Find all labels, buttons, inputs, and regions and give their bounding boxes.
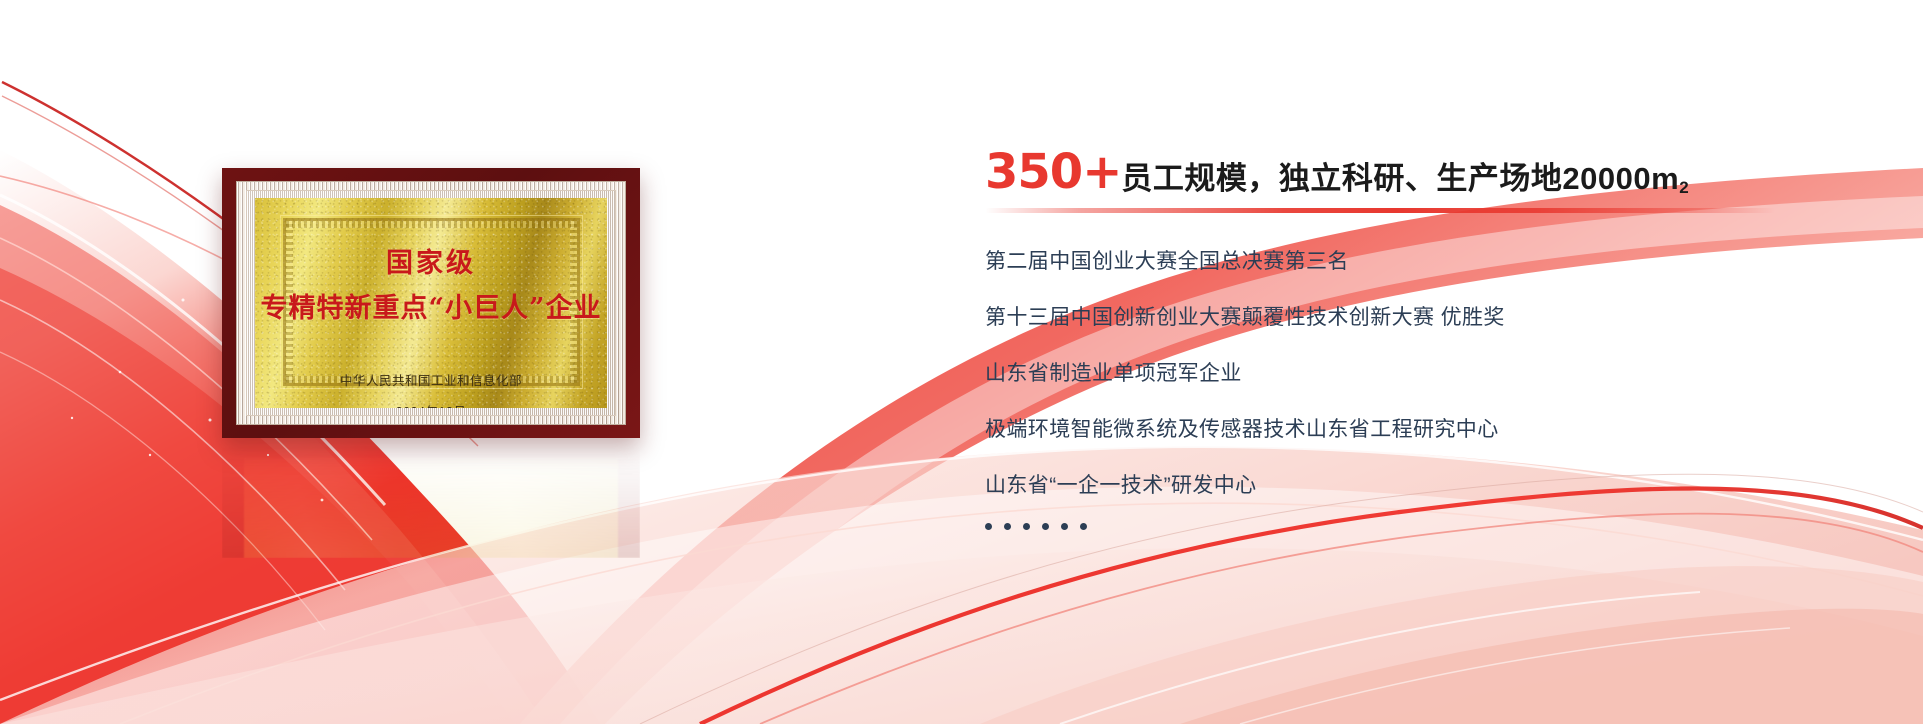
- reflection-frame: [222, 440, 640, 558]
- list-item: 第二届中国创业大赛全国总决赛第三名: [985, 251, 1805, 272]
- plaque-text-block: 国家级 专精特新重点“小巨人”企业 中华人民共和国工业和信息化部 2024年12…: [255, 198, 607, 408]
- ellipsis-dot: [985, 523, 992, 530]
- list-item: 山东省制造业单项冠军企业: [985, 363, 1805, 384]
- plaque-title-line-2: 专精特新重点“小巨人”企业: [260, 295, 601, 322]
- ellipsis-dot: [1023, 523, 1030, 530]
- more-indicator: [985, 523, 1805, 530]
- list-item: 第十三届中国创新创业大赛颠覆性技术创新大赛 优胜奖: [985, 307, 1805, 328]
- plaque-issuer: 中华人民共和国工业和信息化部: [340, 370, 522, 389]
- reflection-plate: [244, 458, 618, 558]
- ellipsis-dot: [1004, 523, 1011, 530]
- headline: 350+ 员工规模，独立科研、生产场地20000m 2: [985, 148, 1805, 196]
- plaque-gold-plate: 国家级 专精特新重点“小巨人”企业 中华人民共和国工业和信息化部 2024年12…: [255, 198, 607, 408]
- plaque-title-line-1: 国家级: [386, 250, 476, 277]
- plaque-date: 2024年12月: [396, 401, 467, 408]
- content-column: 350+ 员工规模，独立科研、生产场地20000m 2 第二届中国创业大赛全国总…: [985, 148, 1805, 565]
- plaque-silver-border-inner: 国家级 专精特新重点“小巨人”企业 中华人民共和国工业和信息化部 2024年12…: [246, 190, 616, 416]
- list-item: 极端环境智能微系统及传感器技术山东省工程研究中心: [985, 419, 1805, 440]
- ellipsis-dot: [1080, 523, 1087, 530]
- plaque-silver-border: 国家级 专精特新重点“小巨人”企业 中华人民共和国工业和信息化部 2024年12…: [236, 181, 626, 425]
- headline-underline: [985, 208, 1775, 213]
- plaque-reflection: [222, 440, 640, 558]
- honors-list: 第二届中国创业大赛全国总决赛第三名 第十三届中国创新创业大赛颠覆性技术创新大赛 …: [985, 251, 1805, 530]
- award-plaque: 国家级 专精特新重点“小巨人”企业 中华人民共和国工业和信息化部 2024年12…: [222, 168, 640, 438]
- plaque-outer-frame: 国家级 专精特新重点“小巨人”企业 中华人民共和国工业和信息化部 2024年12…: [222, 168, 640, 438]
- headline-number: 350+: [985, 148, 1121, 196]
- list-item: 山东省“一企一技术”研发中心: [985, 475, 1805, 496]
- honors-banner: 国家级 专精特新重点“小巨人”企业 中华人民共和国工业和信息化部 2024年12…: [0, 0, 1923, 724]
- ellipsis-dot: [1042, 523, 1049, 530]
- ellipsis-dot: [1061, 523, 1068, 530]
- headline-text: 员工规模，独立科研、生产场地20000m: [1121, 163, 1679, 196]
- headline-superscript: 2: [1679, 179, 1688, 196]
